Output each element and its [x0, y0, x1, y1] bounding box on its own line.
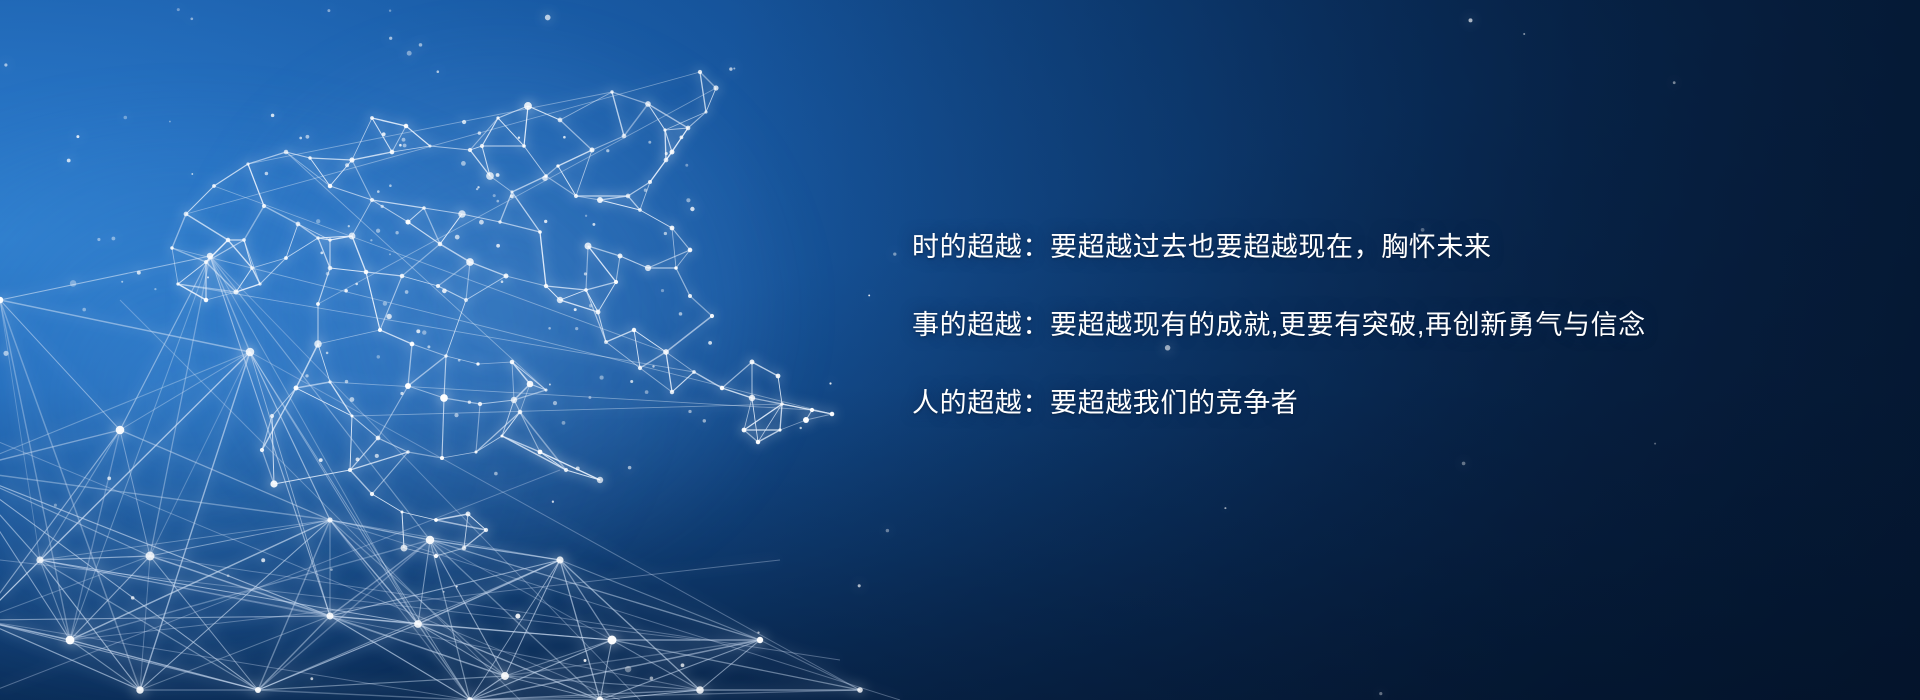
hero-banner: 时的超越：要超越过去也要超越现在，胸怀未来 事的超越：要超越现有的成就,更要有突… — [0, 0, 1920, 700]
slogan-line-3: 人的超越：要超越我们的竞争者 — [912, 390, 1852, 417]
slogan-block: 时的超越：要超越过去也要超越现在，胸怀未来 事的超越：要超越现有的成就,更要有突… — [912, 234, 1852, 417]
background-network-lines — [0, 256, 900, 700]
slogan-line-1: 时的超越：要超越过去也要超越现在，胸怀未来 — [912, 234, 1852, 261]
runner-mesh-nodes — [170, 70, 834, 558]
slogan-line-2: 事的超越：要超越现有的成就,更要有突破,再创新勇气与信念 — [912, 312, 1852, 339]
